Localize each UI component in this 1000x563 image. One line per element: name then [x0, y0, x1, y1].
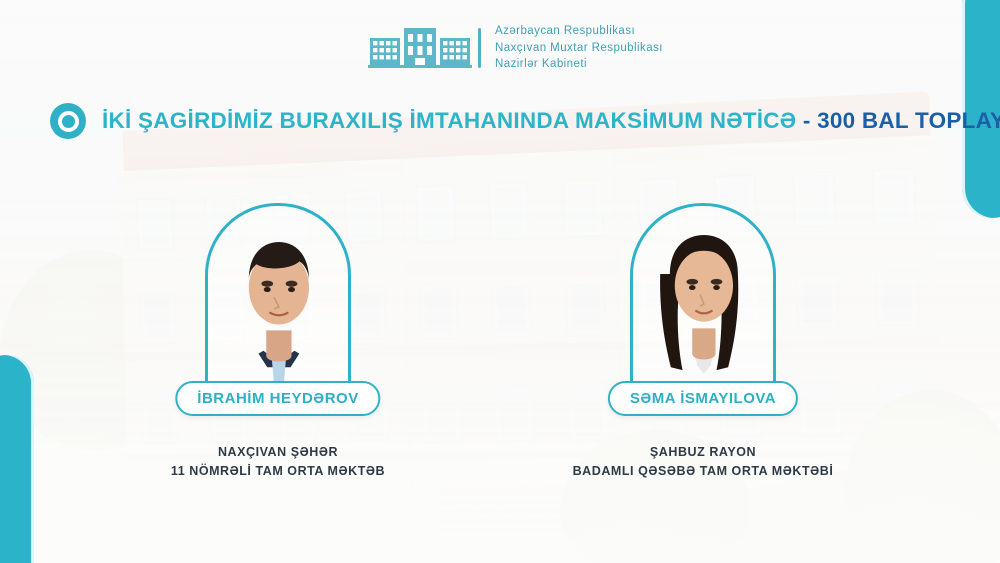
- headline-block: İKİ ŞAGİRDİMİZ BURAXILIŞ İMTAHANINDA MAK…: [50, 103, 1000, 139]
- teal-bracket-left-icon: [0, 355, 34, 563]
- school-line-2: 11 NÖMRƏLİ TAM ORTA MƏKTƏB: [171, 462, 385, 481]
- headline-text-teal: İKİ ŞAGİRDİMİZ BURAXILIŞ İMTAHANINDA MAK…: [102, 108, 803, 133]
- school-line-1: NAXÇIVAN ŞƏHƏR: [171, 443, 385, 462]
- male-student-portrait: [208, 206, 350, 409]
- organization-name: Azərbaycan Respublikası Naxçıvan Muxtar …: [495, 24, 663, 72]
- headline-text-blue: - 300 BAL TOPLAYIB: [803, 108, 1000, 133]
- ring-bullet-icon: [50, 103, 86, 139]
- background-school-building-image: [0, 0, 1000, 563]
- organization-header: Azərbaycan Respublikası Naxçıvan Muxtar …: [368, 24, 663, 72]
- government-building-icon: [368, 24, 472, 72]
- student-name-badge: İBRAHİM HEYDƏROV: [175, 381, 380, 416]
- org-line-3: Nazirlər Kabineti: [495, 57, 663, 72]
- student-name: İBRAHİM HEYDƏROV: [197, 391, 358, 406]
- school-line-2: BADAMLI QƏSƏBƏ TAM ORTA MƏKTƏBİ: [573, 462, 834, 481]
- student-school: ŞAHBUZ RAYON BADAMLI QƏSƏBƏ TAM ORTA MƏK…: [573, 443, 834, 482]
- student-name-badge: SƏMA İSMAYILOVA: [608, 381, 798, 416]
- student-card: SƏMA İSMAYILOVA ŞAHBUZ RAYON BADAMLI QƏS…: [630, 203, 776, 412]
- female-student-portrait: [633, 206, 775, 409]
- student-card: İBRAHİM HEYDƏROV NAXÇIVAN ŞƏHƏR 11 NÖMRƏ…: [205, 203, 351, 412]
- school-line-1: ŞAHBUZ RAYON: [573, 443, 834, 462]
- infographic-banner: Azərbaycan Respublikası Naxçıvan Muxtar …: [0, 0, 1000, 563]
- org-line-2: Naxçıvan Muxtar Respublikası: [495, 41, 663, 56]
- logo-divider: [478, 28, 481, 68]
- student-name: SƏMA İSMAYILOVA: [630, 391, 776, 406]
- student-school: NAXÇIVAN ŞƏHƏR 11 NÖMRƏLİ TAM ORTA MƏKTƏ…: [171, 443, 385, 482]
- org-line-1: Azərbaycan Respublikası: [495, 24, 663, 39]
- background-tint-overlay: [0, 0, 1000, 563]
- page-title: İKİ ŞAGİRDİMİZ BURAXILIŞ İMTAHANINDA MAK…: [102, 110, 1000, 133]
